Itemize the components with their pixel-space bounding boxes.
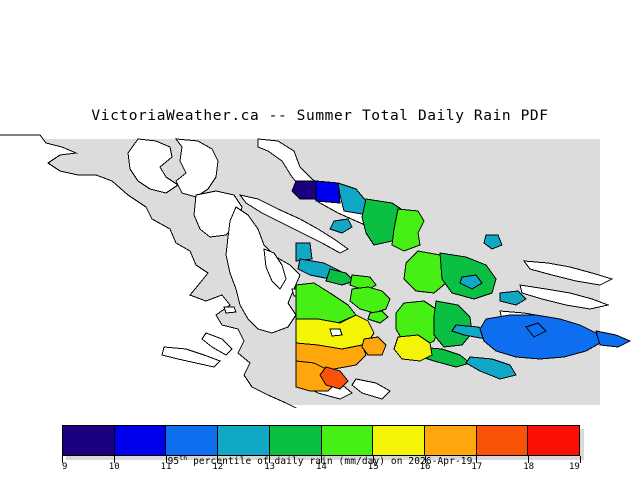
caption-prefix: 95 (168, 456, 180, 467)
colorbar-segment-15-16[interactable] (373, 426, 425, 455)
region-north-island-brgreen[interactable] (392, 209, 424, 251)
caption-suffix: percentile of daily rain (mm/day) on 202… (187, 456, 472, 467)
colorbar-segment-12-13[interactable] (218, 426, 270, 455)
region-sw-lake-in-yellow (330, 329, 342, 336)
central-tiny-lake (224, 307, 236, 313)
map-canvas[interactable] (0, 133, 640, 408)
colorbar-swatches[interactable] (62, 425, 580, 456)
colorbar-segment-13-14[interactable] (270, 426, 322, 455)
colorbar-segment-17-18[interactable] (477, 426, 529, 455)
colorbar-caption: 95th percentile of daily rain (mm/day) o… (0, 456, 640, 467)
region-west-strait-teal[interactable] (296, 243, 312, 261)
colorbar-segment-11-12[interactable] (166, 426, 218, 455)
colorbar-legend[interactable]: 910111213141516171819 (0, 418, 640, 480)
region-nw-island-blue[interactable] (316, 181, 340, 203)
colorbar-segment-18-19[interactable] (528, 426, 579, 455)
colorbar-segment-10-11[interactable] (115, 426, 167, 455)
page-title: VictoriaWeather.ca -- Summer Total Daily… (0, 108, 640, 124)
colorbar-segment-16-17[interactable] (425, 426, 477, 455)
colorbar-segment-14-15[interactable] (322, 426, 374, 455)
colorbar-segment-9-10[interactable] (63, 426, 115, 455)
screenshot-root: VictoriaWeather.ca -- Summer Total Daily… (0, 0, 640, 480)
weather-map[interactable] (0, 133, 640, 408)
region-east-landmass-blue-tip[interactable] (596, 331, 630, 347)
